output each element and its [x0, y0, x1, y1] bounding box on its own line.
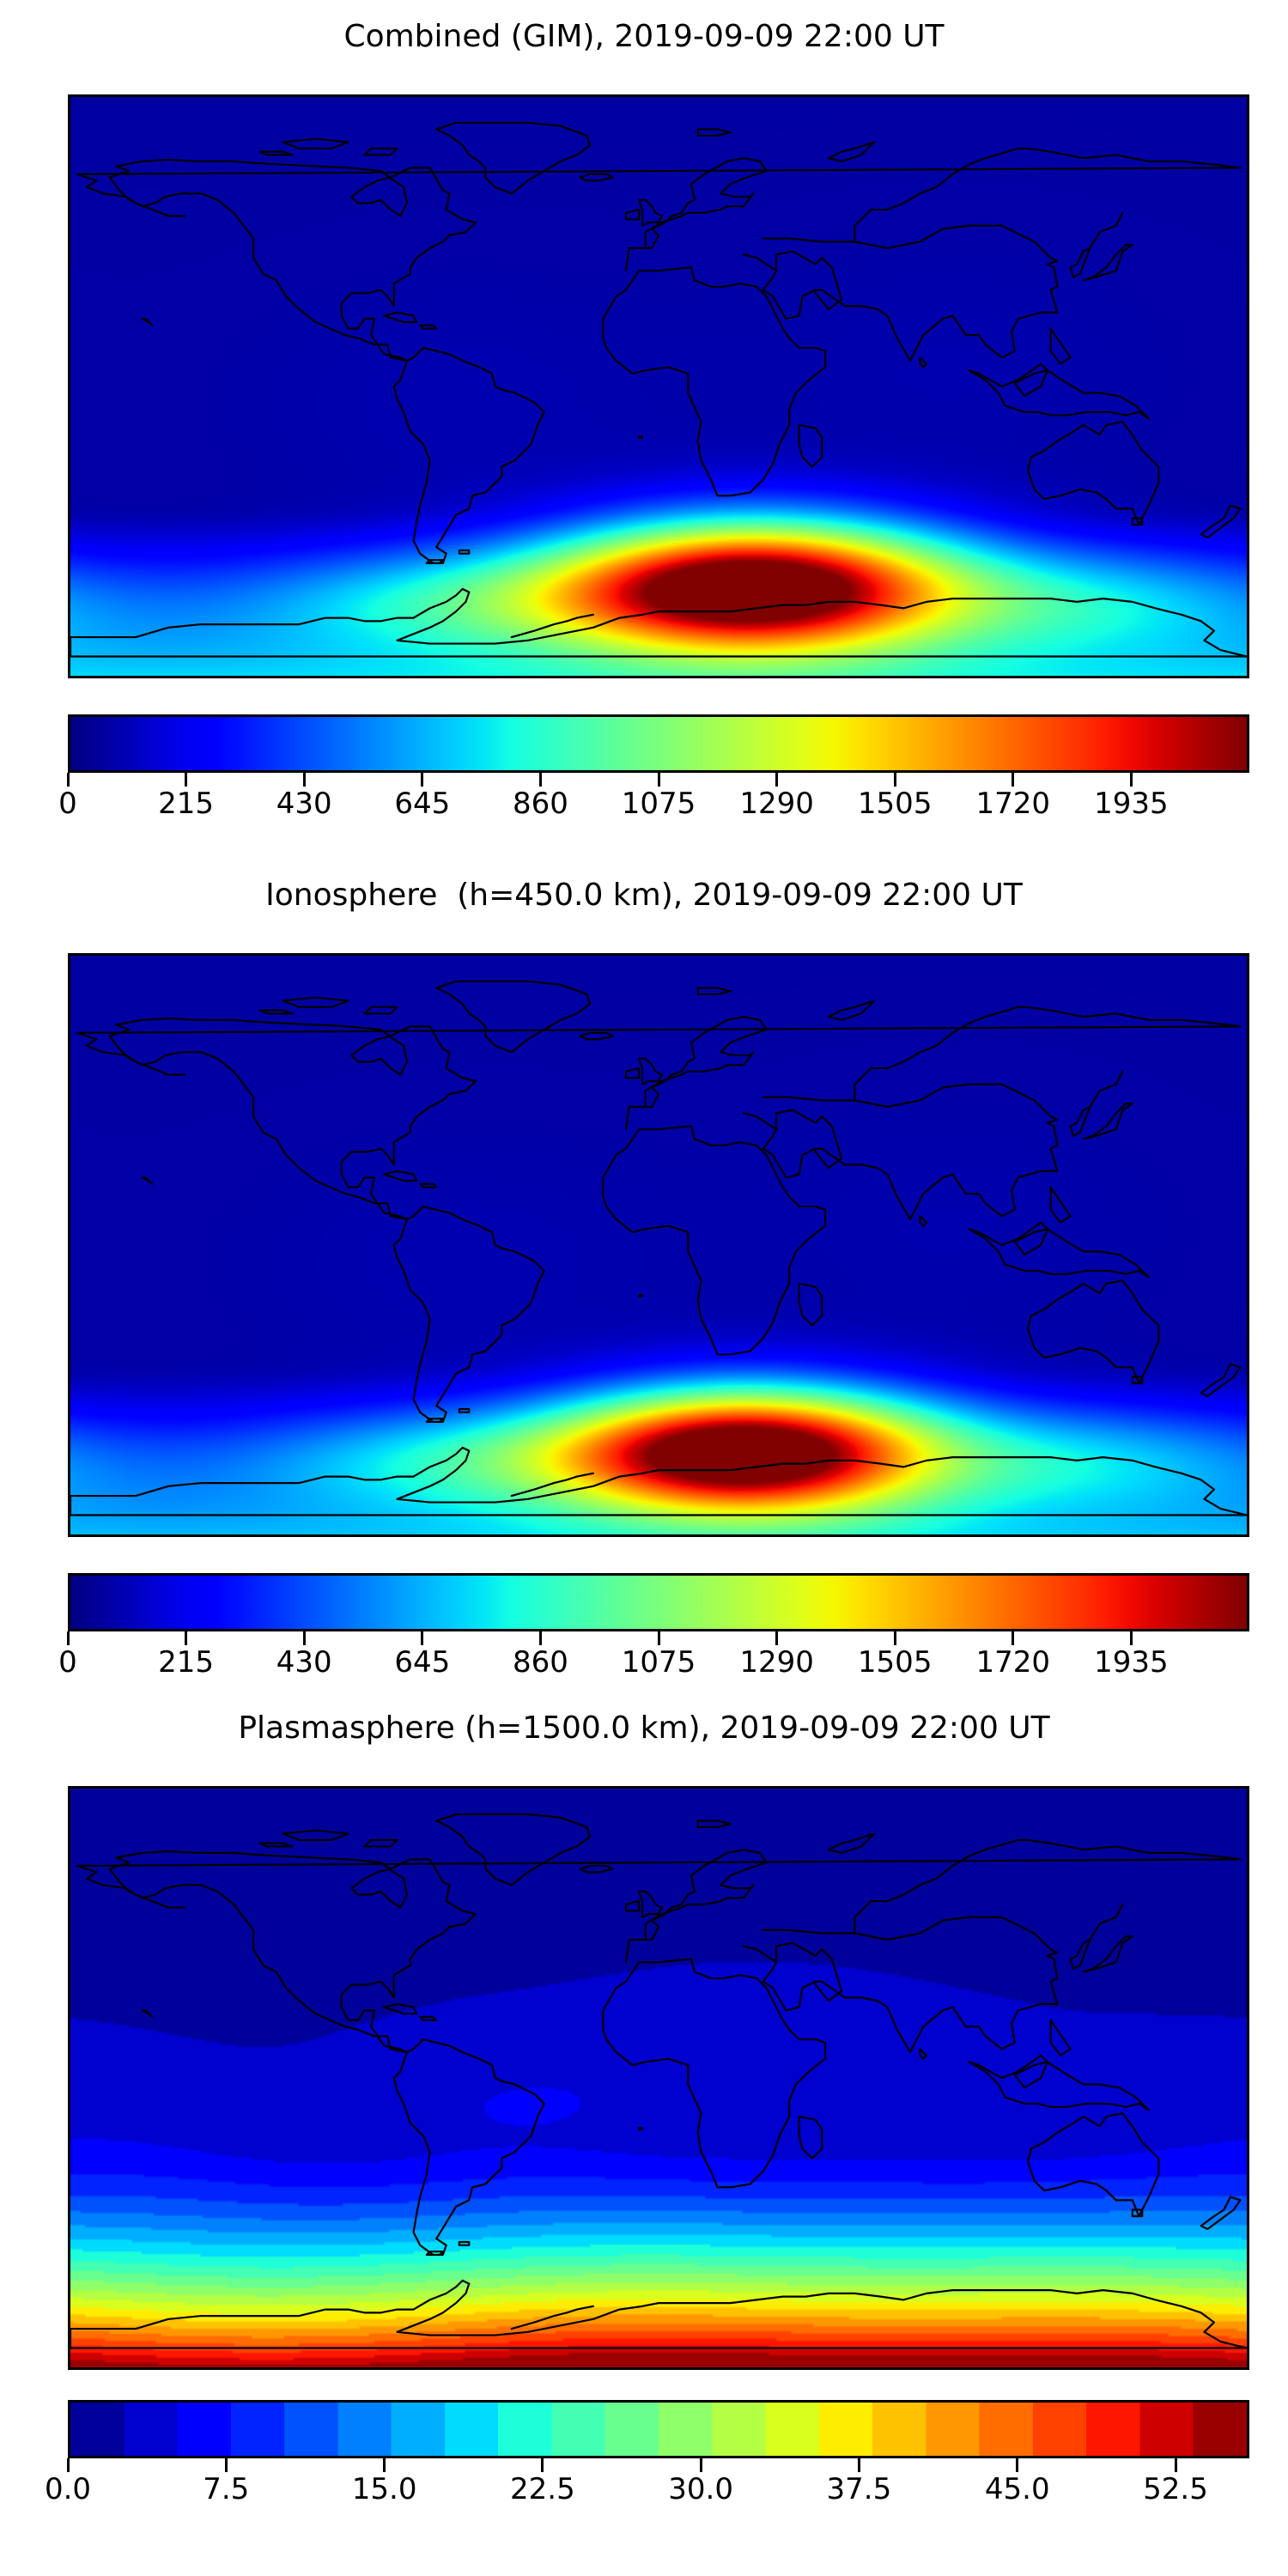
coastline-path: [512, 615, 593, 637]
colorbar-tick-label: 0: [58, 787, 77, 821]
colorbar-tick-label: 1720: [976, 1645, 1051, 1680]
coastline-path: [1201, 506, 1241, 538]
coastline-path: [744, 1943, 841, 2011]
colorbar-tick-label: 7.5: [203, 2472, 249, 2506]
coastline-path: [512, 2306, 593, 2329]
colorbar-tick: [1012, 773, 1014, 787]
colorbar-tick: [225, 2458, 228, 2472]
colorbar-tick-label: 0: [58, 1645, 77, 1680]
coastline-path: [626, 1901, 639, 1911]
coastline-path: [920, 2049, 927, 2058]
coastline-path: [744, 252, 841, 319]
colorbar-tick: [775, 773, 778, 787]
coastline-path: [260, 1844, 293, 1847]
coastline-path: [365, 149, 398, 155]
coastline-path: [969, 2056, 1149, 2111]
colorbar-tick-labels: 021543064586010751290150517201935: [68, 787, 1249, 826]
coastline-path: [260, 152, 293, 155]
coastline-path: [639, 2128, 642, 2129]
colorbar-tick-label: 1075: [622, 787, 696, 821]
colorbar-ticks: [68, 2458, 1249, 2472]
coastline-path: [436, 981, 590, 1052]
colorbar-tick-label: 860: [513, 1645, 568, 1680]
colorbar-tick: [1175, 2458, 1177, 2472]
coastline-path: [1028, 422, 1158, 525]
map-axes-combined-gim: [68, 94, 1249, 678]
colorbar-tick: [303, 773, 306, 787]
colorbar-tick-label: 30.0: [668, 2472, 733, 2506]
coastline-path: [394, 1206, 544, 1422]
coastline-path: [639, 1059, 662, 1084]
coastline-path: [603, 1959, 825, 2187]
colorbar-ticks: [68, 1631, 1249, 1645]
coastline-path: [626, 210, 639, 219]
coastline-path: [829, 1833, 874, 1852]
coastline-path: [920, 357, 927, 367]
panel-title-ionosphere: Ionosphere (h=450.0 km), 2019-09-09 22:0…: [0, 880, 1288, 911]
coastline-path: [1071, 1905, 1123, 1969]
colorbar-tick: [858, 2458, 860, 2472]
colorbar-tick: [67, 1631, 70, 1645]
coastline-path: [1071, 213, 1123, 277]
colorbar-tick-label: 0.0: [45, 2472, 91, 2506]
coastline-path: [394, 2039, 544, 2255]
colorbar-bar[interactable]: [68, 1573, 1249, 1631]
colorbar-tick: [775, 1631, 778, 1645]
coastline-path: [603, 1126, 825, 1354]
colorbar-tick: [539, 773, 542, 787]
colorbar-tick-label: 22.5: [510, 2472, 575, 2506]
colorbar-tick-label: 645: [394, 787, 450, 821]
coastline-path: [70, 2281, 1247, 2348]
coastline-path: [384, 313, 416, 322]
coastline-path: [1084, 1936, 1133, 1971]
colorbar-tick-label: 45.0: [985, 2472, 1050, 2506]
coastline-path: [1084, 1103, 1133, 1139]
coastline-path: [799, 2117, 823, 2159]
coastline-path: [698, 987, 731, 993]
colorbar-tick-label: 215: [158, 787, 214, 821]
colorbar-tick: [658, 773, 660, 787]
coastline-path: [283, 139, 348, 149]
colorbar-tick: [303, 1631, 306, 1645]
coastline-path: [698, 1820, 731, 1826]
colorbar-tick-label: 430: [276, 1645, 332, 1680]
colorbar-tick-label: 1075: [622, 1645, 696, 1680]
coastline-path: [70, 589, 1247, 657]
coastline-path: [427, 2251, 443, 2255]
coastline-path: [603, 267, 825, 495]
coastline-path: [639, 1892, 662, 1917]
coastline-path: [420, 2017, 436, 2020]
colorbar-tick-label: 1505: [858, 787, 933, 821]
colorbar-tick-labels: 021543064586010751290150517201935: [68, 1645, 1249, 1685]
coastline-path: [639, 1295, 642, 1297]
colorbar-tick-labels: 0.07.515.022.530.037.545.052.5: [68, 2472, 1249, 2512]
colorbar-tick-label: 52.5: [1143, 2472, 1208, 2506]
coastline-path: [436, 123, 590, 193]
coastline-path: [283, 998, 348, 1007]
coastline-path: [744, 1110, 841, 1178]
coastline-path: [459, 2242, 469, 2245]
colorbar-tick-label: 1720: [976, 787, 1051, 821]
coastline-path: [1015, 370, 1048, 396]
panel-title-plasmasphere: Plasmasphere (h=1500.0 km), 2019-09-09 2…: [0, 1713, 1288, 1744]
coastline-path: [626, 1017, 767, 1129]
coastline-path: [639, 200, 662, 226]
colorbar-tick-label: 1505: [858, 1645, 933, 1680]
colorbar-tick: [894, 1631, 896, 1645]
coastline-overlay: [70, 97, 1247, 676]
coastline-path: [969, 364, 1149, 419]
coastline-path: [1015, 1229, 1048, 1255]
colorbar-bar[interactable]: [68, 2400, 1249, 2458]
coastline-overlay: [70, 1789, 1247, 2367]
coastline-path: [698, 129, 731, 135]
figure-canvas: Combined (GIM), 2019-09-09 22:00 UT 0215…: [0, 0, 1288, 2576]
coastline-path: [829, 142, 874, 161]
coastline-path: [1201, 1364, 1241, 1396]
colorbar-tick: [1130, 1631, 1133, 1645]
coastline-path: [365, 1840, 398, 1846]
colorbar-tick: [383, 2458, 386, 2472]
colorbar-tick: [894, 773, 896, 787]
colorbar-gradient: [70, 717, 1247, 770]
coastline-path: [427, 1419, 443, 1422]
map-axes-ionosphere: [68, 953, 1249, 1537]
colorbar-tick: [539, 1631, 542, 1645]
coastline-path: [384, 1171, 416, 1181]
coastline-path: [639, 436, 642, 438]
coastline-path: [799, 425, 823, 467]
coastline-path: [110, 1018, 476, 1219]
coastline-path: [365, 1007, 398, 1013]
colorbar-tick: [421, 1631, 423, 1645]
colorbar-tick: [185, 773, 187, 787]
coastline-path: [1051, 329, 1071, 364]
colorbar-gradient: [70, 1576, 1247, 1629]
coastline-overlay: [70, 956, 1247, 1534]
coastline-path: [1051, 2020, 1071, 2056]
coastline-path: [1201, 2197, 1241, 2229]
coastline-path: [1084, 245, 1133, 280]
colorbar-tick-label: 860: [513, 787, 568, 821]
coastline-path: [110, 160, 476, 361]
colorbar-ticks: [68, 773, 1249, 787]
coastline-path: [626, 1850, 767, 1962]
colorbar-tick-label: 37.5: [827, 2472, 892, 2506]
colorbar-tick: [541, 2458, 544, 2472]
colorbar-tick: [421, 773, 423, 787]
coastline-path: [626, 1068, 639, 1078]
coastline-path: [799, 1284, 823, 1326]
coastline-path: [436, 1814, 590, 1885]
colorbar-tick-label: 430: [276, 787, 332, 821]
colorbar-tick-label: 215: [158, 1645, 214, 1680]
colorbar-tick: [67, 773, 70, 787]
coastline-path: [1028, 2113, 1158, 2216]
coastline-path: [70, 1448, 1247, 1516]
colorbar-tick: [1016, 2458, 1018, 2472]
colorbar-tick: [185, 1631, 187, 1645]
coastline-path: [969, 1223, 1149, 1278]
coastline-path: [143, 2010, 152, 2016]
coastline-path: [1015, 2062, 1048, 2087]
coastline-path: [427, 560, 443, 563]
coastline-path: [420, 325, 436, 329]
coastline-path: [1071, 1072, 1123, 1136]
coastline-path: [143, 1177, 152, 1183]
coastline-path: [459, 550, 469, 554]
colorbar-tick-label: 1290: [739, 787, 814, 821]
colorbar-tick: [658, 1631, 660, 1645]
colorbar-tick: [67, 2458, 70, 2472]
colorbar-bar[interactable]: [68, 714, 1249, 773]
coastline-path: [283, 1831, 348, 1840]
map-axes-plasmasphere: [68, 1786, 1249, 2370]
colorbar-tick-label: 1290: [739, 1645, 814, 1680]
colorbar-tick-label: 1935: [1094, 787, 1169, 821]
coastline-path: [420, 1184, 436, 1188]
colorbar-gradient: [70, 2403, 1247, 2456]
coastline-path: [580, 1033, 613, 1039]
coastline-path: [829, 1000, 874, 1019]
coastline-path: [626, 158, 767, 270]
coastline-path: [512, 1473, 593, 1496]
coastline-path: [459, 1409, 469, 1413]
coastline-path: [580, 1866, 613, 1872]
coastline-path: [1051, 1188, 1071, 1223]
colorbar-tick: [1012, 1631, 1014, 1645]
coastline-path: [260, 1011, 293, 1014]
coastline-path: [384, 2004, 416, 2014]
colorbar-tick: [1130, 773, 1133, 787]
colorbar-tick-label: 645: [394, 1645, 450, 1680]
coastline-path: [143, 319, 152, 325]
colorbar-tick-label: 15.0: [352, 2472, 417, 2506]
coastline-path: [580, 174, 613, 180]
coastline-path: [920, 1216, 927, 1225]
coastline-path: [394, 348, 544, 563]
colorbar-tick: [700, 2458, 702, 2472]
coastline-path: [1028, 1280, 1158, 1383]
colorbar-tick-label: 1935: [1094, 1645, 1169, 1680]
coastline-path: [110, 1851, 476, 2052]
panel-title-combined-gim: Combined (GIM), 2019-09-09 22:00 UT: [0, 21, 1288, 52]
